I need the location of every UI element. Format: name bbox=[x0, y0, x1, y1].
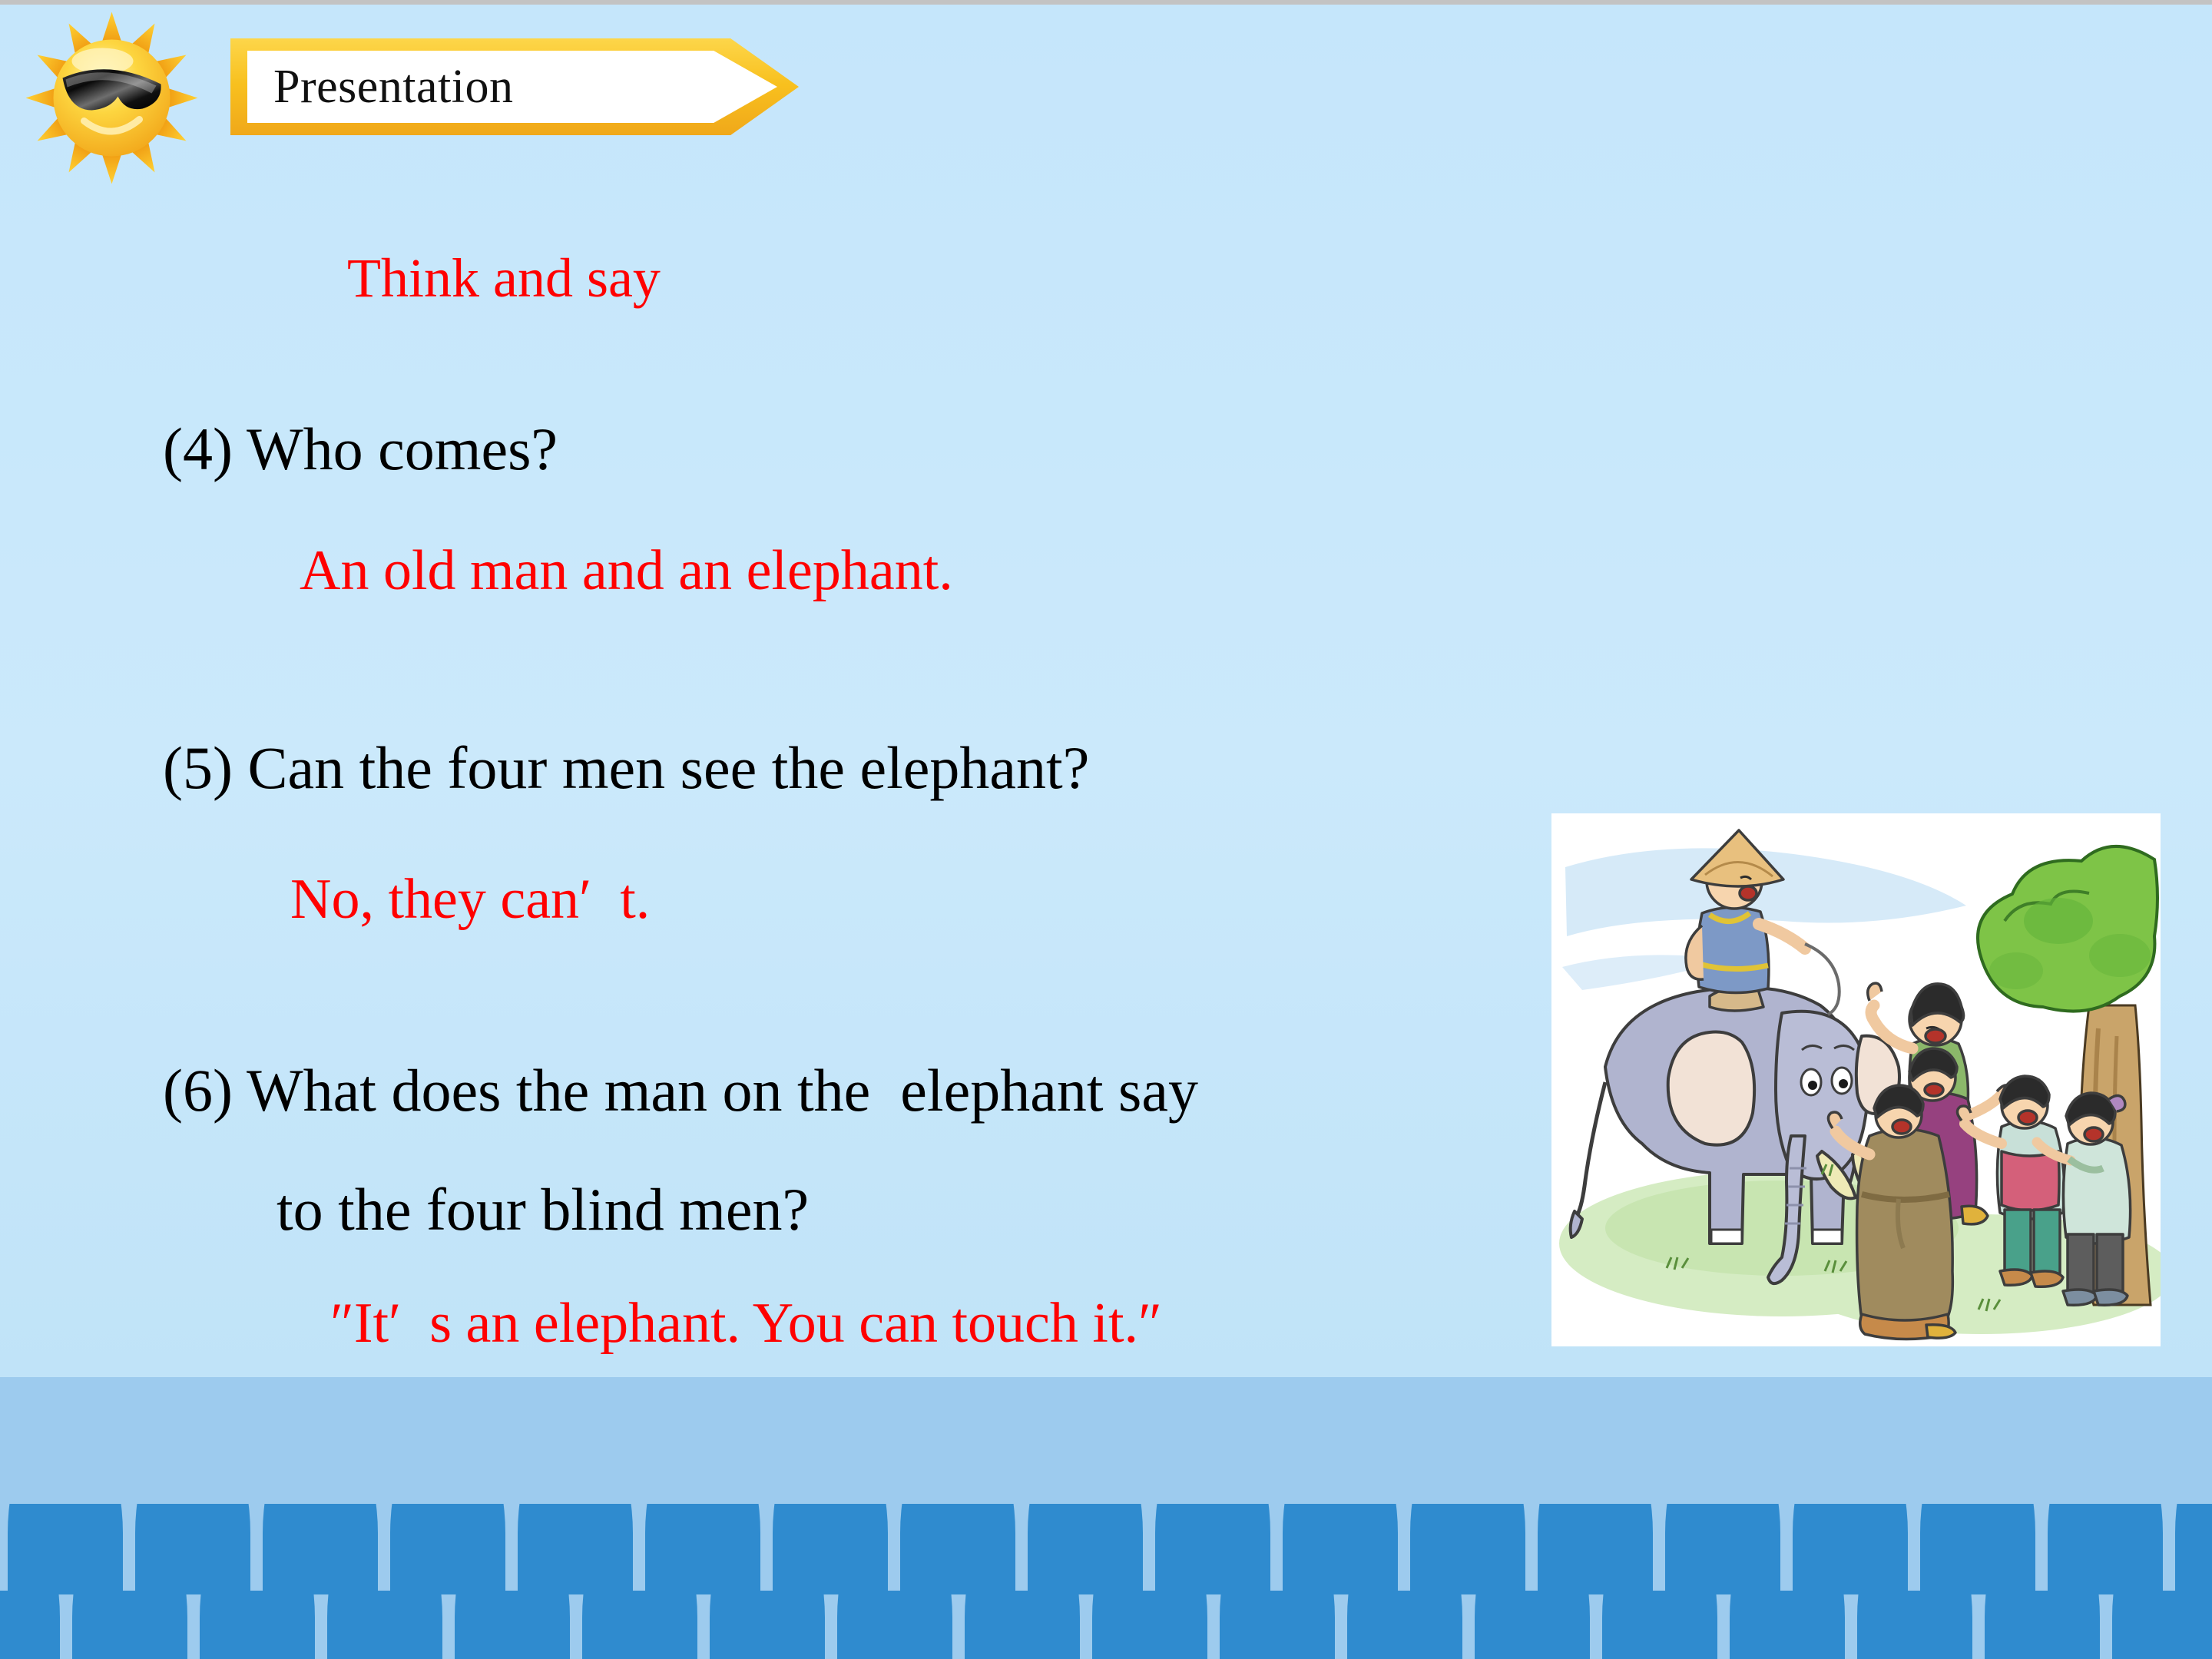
dome-shape bbox=[455, 1591, 570, 1659]
dome-shape bbox=[200, 1591, 315, 1659]
answer-4: An old man and an elephant. bbox=[300, 542, 953, 599]
dome-shape bbox=[1665, 1504, 1780, 1594]
dome-shape bbox=[1538, 1504, 1653, 1594]
question-4: (4) Who comes? bbox=[163, 419, 558, 479]
dome-shape bbox=[965, 1591, 1080, 1659]
dome-shape bbox=[327, 1591, 442, 1659]
question-6-line2: to the four blind men? bbox=[276, 1180, 809, 1240]
dome-shape bbox=[900, 1504, 1015, 1594]
question-5: (5) Can the four men see the elephant? bbox=[163, 738, 1089, 798]
dome-shape bbox=[1092, 1591, 1207, 1659]
dome-shape bbox=[2048, 1504, 2163, 1594]
dome-shape bbox=[1475, 1591, 1590, 1659]
dome-shape bbox=[0, 1591, 60, 1659]
dome-shape bbox=[837, 1591, 952, 1659]
dome-shape bbox=[1410, 1504, 1525, 1594]
dome-shape bbox=[1283, 1504, 1398, 1594]
dome-shape bbox=[1028, 1504, 1143, 1594]
dome-shape bbox=[2112, 1591, 2212, 1659]
dome-shape bbox=[8, 1504, 123, 1594]
dome-shape bbox=[72, 1591, 187, 1659]
dome-row-bottom bbox=[0, 1591, 2212, 1659]
dome-shape bbox=[2175, 1504, 2212, 1594]
dome-shape bbox=[710, 1591, 825, 1659]
dome-shape bbox=[1920, 1504, 2035, 1594]
dome-shape bbox=[1602, 1591, 1717, 1659]
dome-shape bbox=[518, 1504, 633, 1594]
dome-shape bbox=[1220, 1591, 1335, 1659]
elephant-and-four-blind-men-illustration bbox=[1551, 813, 2161, 1346]
dome-shape bbox=[773, 1504, 888, 1594]
dome-shape bbox=[645, 1504, 760, 1594]
section-heading-think-and-say: Think and say bbox=[347, 250, 661, 306]
dome-shape bbox=[263, 1504, 378, 1594]
dome-shape bbox=[1793, 1504, 1908, 1594]
slide-canvas: Presentation Think and say (4) Who comes… bbox=[0, 0, 2212, 1659]
question-6: (6) What does the man on the elephant sa… bbox=[163, 1061, 1198, 1121]
dome-shape bbox=[1730, 1591, 1845, 1659]
dome-shape bbox=[1155, 1504, 1270, 1594]
dome-shape bbox=[390, 1504, 505, 1594]
dome-row-top bbox=[0, 1504, 2212, 1594]
answer-5: No, they can′ t. bbox=[290, 871, 650, 928]
dome-shape bbox=[1857, 1591, 1972, 1659]
dome-shape bbox=[1347, 1591, 1462, 1659]
dome-shape bbox=[1985, 1591, 2100, 1659]
dome-shape bbox=[135, 1504, 250, 1594]
dome-shape bbox=[582, 1591, 697, 1659]
answer-6: ″It′ s an elephant. You can touch it.″ bbox=[330, 1295, 1162, 1352]
